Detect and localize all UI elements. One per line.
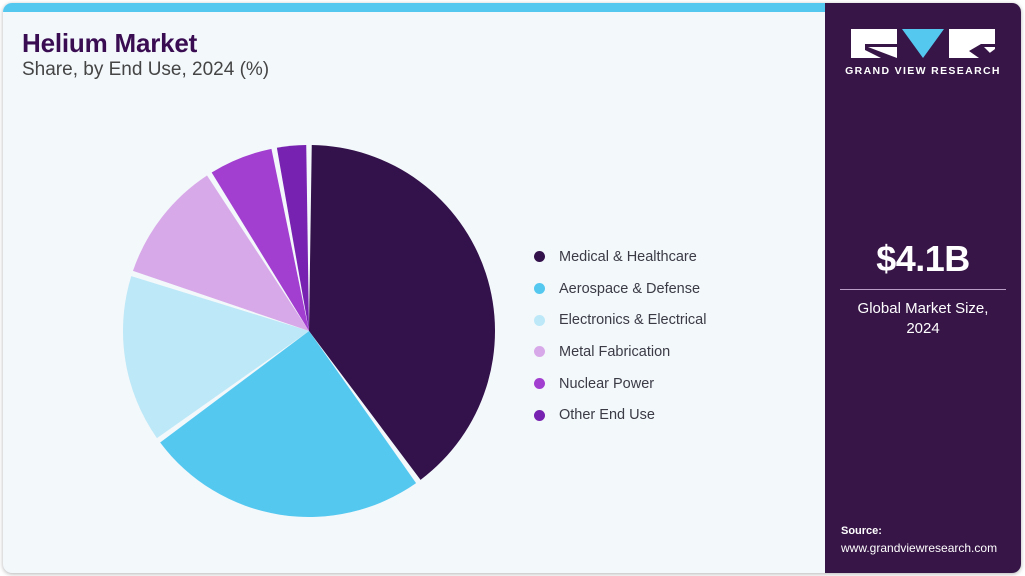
accent-bar [3,3,825,12]
gvr-logo: GRAND VIEW RESEARCH [825,29,1021,77]
logo-r-icon [949,29,995,58]
chart-card: Helium Market Share, by End Use, 2024 (%… [3,3,1021,573]
legend-item[interactable]: Other End Use [534,399,804,431]
chart-legend: Medical & HealthcareAerospace & DefenseE… [534,241,804,431]
legend-item[interactable]: Nuclear Power [534,368,804,400]
gvr-logo-text: GRAND VIEW RESEARCH [825,65,1021,77]
legend-color-swatch [534,378,545,389]
page-subtitle: Share, by End Use, 2024 (%) [22,59,269,81]
source-url: www.grandviewresearch.com [841,540,1013,556]
logo-v-triangle-icon [902,29,944,58]
market-size-caption: Global Market Size, 2024 [825,299,1021,339]
legend-item-label: Electronics & Electrical [559,312,706,328]
legend-item-label: Nuclear Power [559,376,654,392]
infographic-root: Helium Market Share, by End Use, 2024 (%… [0,0,1025,576]
legend-item-label: Aerospace & Defense [559,281,700,297]
legend-color-swatch [534,283,545,294]
legend-color-swatch [534,315,545,326]
page-title: Helium Market [22,28,197,59]
legend-item[interactable]: Medical & Healthcare [534,241,804,273]
market-size-stat: $4.1B Global Market Size, 2024 [825,241,1021,339]
legend-item-label: Metal Fabrication [559,344,670,360]
logo-g-icon [851,29,897,58]
legend-color-swatch [534,410,545,421]
pie-slice-group [123,145,495,517]
side-panel: GRAND VIEW RESEARCH $4.1B Global Market … [825,3,1021,573]
legend-item-label: Other End Use [559,407,655,423]
legend-item[interactable]: Metal Fabrication [534,336,804,368]
stat-divider [840,289,1006,290]
legend-color-swatch [534,251,545,262]
gvr-logo-marks [825,29,1021,58]
legend-item[interactable]: Electronics & Electrical [534,304,804,336]
pie-chart [122,144,496,518]
source-block: Source: www.grandviewresearch.com [841,524,1013,556]
legend-item[interactable]: Aerospace & Defense [534,273,804,305]
market-size-value: $4.1B [825,241,1021,277]
legend-item-label: Medical & Healthcare [559,249,697,265]
source-label: Source: [841,524,1013,540]
pie-chart-svg [122,144,496,518]
legend-color-swatch [534,346,545,357]
